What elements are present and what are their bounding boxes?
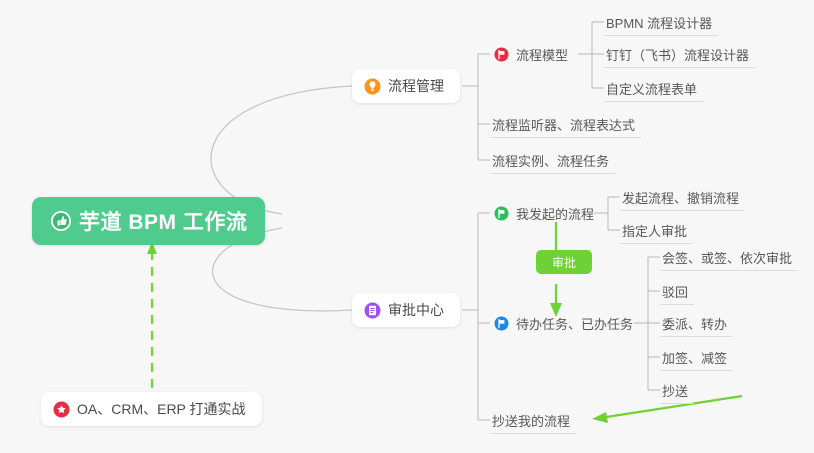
node-label: BPMN 流程设计器 bbox=[606, 13, 712, 32]
node-label: 会签、或签、依次审批 bbox=[662, 248, 792, 267]
node-cc[interactable]: 抄送 bbox=[660, 377, 694, 404]
root-node[interactable]: 芋道 BPM 工作流 bbox=[32, 197, 265, 245]
approval-tag: 审批 bbox=[536, 250, 592, 274]
integration-note-label: OA、CRM、ERP 打通实战 bbox=[77, 399, 246, 419]
lightbulb-icon bbox=[364, 78, 381, 95]
flag-icon bbox=[494, 47, 509, 62]
node-countersign[interactable]: 会签、或签、依次审批 bbox=[660, 244, 798, 271]
node-label: 流程模型 bbox=[516, 45, 568, 64]
node-label: 抄送 bbox=[662, 381, 688, 400]
branch-label: 流程管理 bbox=[388, 76, 444, 96]
root-label: 芋道 BPM 工作流 bbox=[79, 206, 247, 236]
node-reject[interactable]: 驳回 bbox=[660, 278, 694, 305]
node-label: 我发起的流程 bbox=[516, 204, 594, 223]
node-dingtalk-designer[interactable]: 钉钉（飞书）流程设计器 bbox=[604, 41, 755, 68]
integration-note[interactable]: OA、CRM、ERP 打通实战 bbox=[41, 392, 262, 426]
node-my-started-process[interactable]: 我发起的流程 bbox=[492, 200, 600, 226]
node-label: 流程实例、流程任务 bbox=[492, 151, 609, 170]
branch-approval-center[interactable]: 审批中心 bbox=[352, 293, 460, 327]
node-process-model[interactable]: 流程模型 bbox=[492, 41, 574, 67]
node-process-listener[interactable]: 流程监听器、流程表达式 bbox=[490, 111, 641, 138]
star-icon bbox=[53, 401, 70, 418]
node-delegate-transfer[interactable]: 委派、转办 bbox=[660, 310, 733, 337]
node-label: 自定义流程表单 bbox=[606, 79, 697, 98]
flag-icon bbox=[494, 316, 509, 331]
node-label: 加签、减签 bbox=[662, 348, 727, 367]
node-add-remove-sign[interactable]: 加签、减签 bbox=[660, 344, 733, 371]
node-label: 抄送我的流程 bbox=[492, 411, 570, 430]
clipboard-icon bbox=[364, 302, 381, 319]
link-root-process-management bbox=[211, 86, 352, 214]
node-label: 钉钉（飞书）流程设计器 bbox=[606, 45, 749, 64]
node-label: 流程监听器、流程表达式 bbox=[492, 115, 635, 134]
approval-tag-label: 审批 bbox=[552, 254, 576, 271]
node-label: 待办任务、已办任务 bbox=[516, 314, 633, 333]
branch-process-management[interactable]: 流程管理 bbox=[352, 69, 460, 103]
thumbs-up-icon bbox=[50, 210, 72, 232]
node-cc-to-me-process[interactable]: 抄送我的流程 bbox=[490, 407, 576, 434]
node-process-instance[interactable]: 流程实例、流程任务 bbox=[490, 147, 615, 174]
arrow-integration-to-root bbox=[147, 242, 157, 388]
node-todo-done-tasks[interactable]: 待办任务、已办任务 bbox=[492, 310, 639, 336]
flag-icon bbox=[494, 206, 509, 221]
node-bpmn-designer[interactable]: BPMN 流程设计器 bbox=[604, 9, 718, 36]
node-custom-form[interactable]: 自定义流程表单 bbox=[604, 75, 703, 102]
node-label: 指定人审批 bbox=[622, 221, 687, 240]
node-label: 发起流程、撤销流程 bbox=[622, 188, 739, 207]
node-assignee-approval[interactable]: 指定人审批 bbox=[620, 217, 693, 244]
node-label: 驳回 bbox=[662, 282, 688, 301]
node-label: 委派、转办 bbox=[662, 314, 727, 333]
branch-label: 审批中心 bbox=[388, 300, 444, 320]
mindmap-canvas: 芋道 BPM 工作流 流程管理 流程模型 BPMN 流程设计器 钉钉（飞书）流程 bbox=[0, 0, 814, 453]
node-start-cancel-process[interactable]: 发起流程、撤销流程 bbox=[620, 184, 745, 211]
